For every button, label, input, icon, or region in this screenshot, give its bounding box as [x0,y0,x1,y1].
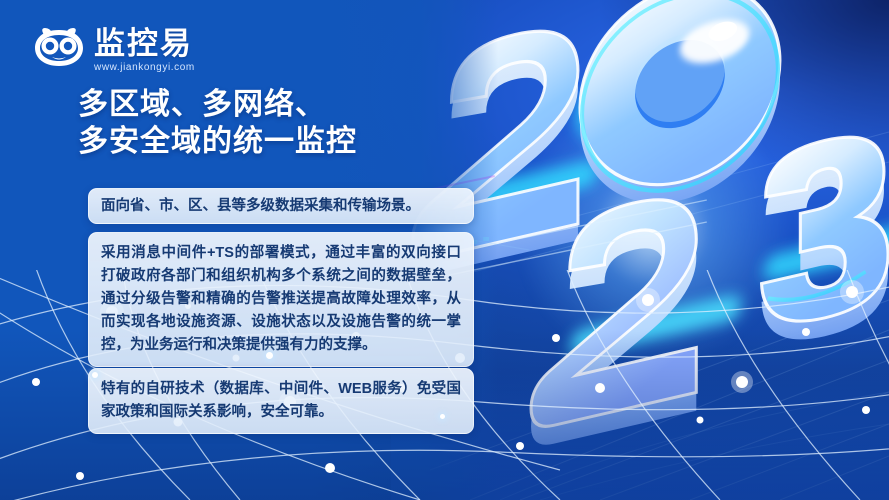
headline-line-2: 多安全域的统一监控 [78,123,357,160]
info-card-architecture: 采用消息中间件+TS的部署模式，通过丰富的双向接口打破政府各部门和组织机构多个系… [88,232,474,367]
info-card-self-developed: 特有的自研技术（数据库、中间件、WEB服务）免受国家政策和国际关系影响，安全可靠… [88,368,474,434]
brand-url: www.jiankongyi.com [94,61,195,74]
brand-name: 监控易 [94,27,195,60]
mesh-node-highlight [440,414,445,419]
info-card-self-developed-text: 特有的自研技术（数据库、中间件、WEB服务）免受国家政策和国际关系影响，安全可靠… [101,378,461,424]
page-title: 多区域、多网络、 多安全域的统一监控 [78,86,357,160]
info-card-scenario: 面向省、市、区、县等多级数据采集和传输场景。 [88,188,474,224]
promo-banner: 监控易 www.jiankongyi.com 多区域、多网络、 多安全域的统一监… [0,0,889,500]
info-card-scenario-text: 面向省、市、区、县等多级数据采集和传输场景。 [101,196,461,216]
brand-logo[interactable]: 监控易 www.jiankongyi.com [33,26,195,74]
owl-face-icon [33,26,85,70]
headline-line-1: 多区域、多网络、 [78,86,357,123]
mesh-node-highlight [92,372,98,378]
info-card-architecture-text: 采用消息中间件+TS的部署模式，通过丰富的双向接口打破政府各部门和组织机构多个系… [101,242,461,357]
mesh-node-highlight [266,352,273,359]
